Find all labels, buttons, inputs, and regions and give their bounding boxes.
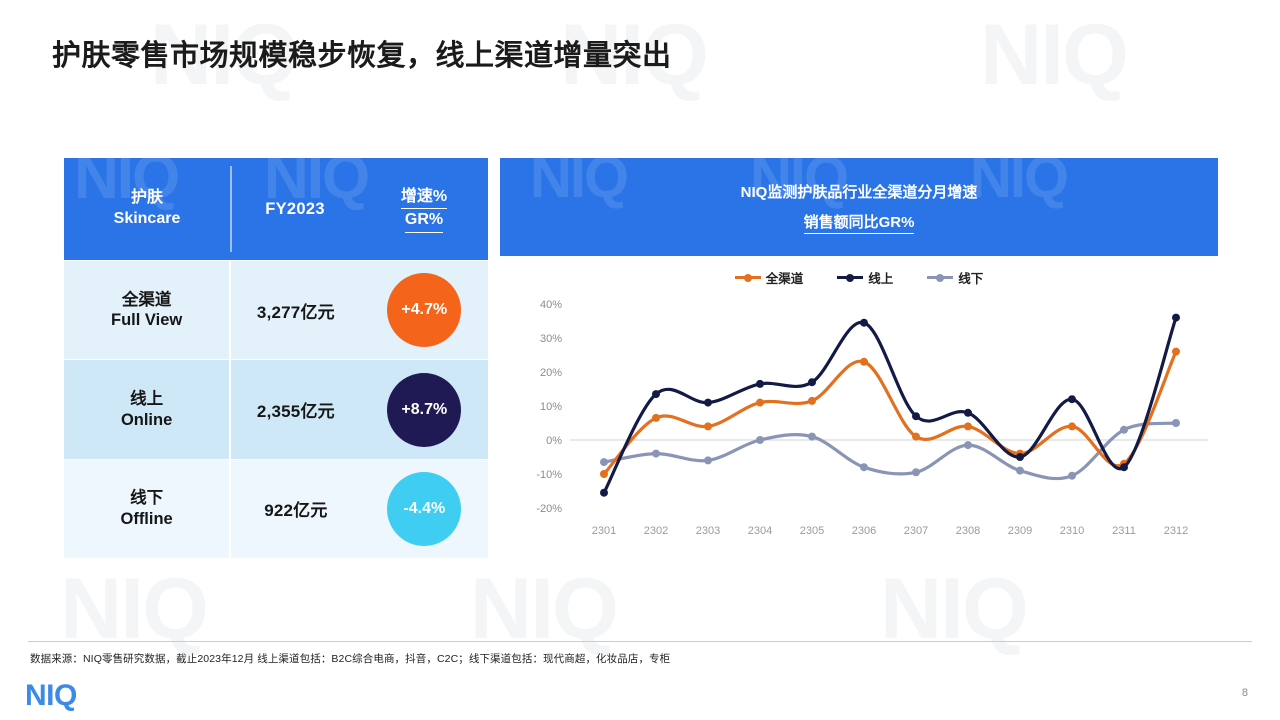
legend-item[interactable]: 线上 xyxy=(837,268,893,287)
chart-title-line1: NIQ监测护肤品行业全渠道分月增速 xyxy=(741,181,978,202)
row-value: 2,355亿元 xyxy=(257,397,335,422)
slide-root: NIQ NIQ NIQ NIQ NIQ NIQ 护肤零售市场规模稳步恢复，线上渠… xyxy=(0,0,1280,720)
data-point[interactable] xyxy=(600,489,608,497)
y-axis-tick-label: 0% xyxy=(546,435,562,447)
metrics-table: NIQ NIQ 护肤 Skincare FY2023 增速% GR% xyxy=(64,158,488,558)
x-axis-tick-label: 2307 xyxy=(904,525,928,537)
row-label-cell: 全渠道 Full View xyxy=(64,261,229,359)
x-axis-tick-label: 2312 xyxy=(1164,525,1188,537)
data-point[interactable] xyxy=(704,456,712,464)
x-axis-tick-label: 2309 xyxy=(1008,525,1032,537)
data-point[interactable] xyxy=(860,358,868,366)
table-row: 线上 Online 2,355亿元 +8.7% xyxy=(64,360,488,458)
growth-value: +8.7% xyxy=(401,401,447,419)
data-point[interactable] xyxy=(704,422,712,430)
data-point[interactable] xyxy=(600,470,608,478)
data-point[interactable] xyxy=(912,433,920,441)
legend-label: 全渠道 xyxy=(766,268,804,287)
legend-swatch xyxy=(735,276,761,279)
data-point[interactable] xyxy=(652,450,660,458)
data-point[interactable] xyxy=(1120,426,1128,434)
row-label-en: Online xyxy=(121,410,172,431)
legend-swatch xyxy=(927,276,953,279)
x-axis-tick-label: 2308 xyxy=(956,525,980,537)
data-point[interactable] xyxy=(1068,472,1076,480)
line-chart: -20%-10%0%10%20%30%40%230123022303230423… xyxy=(500,290,1218,558)
row-value: 922亿元 xyxy=(264,496,327,521)
row-label-cn: 全渠道 xyxy=(122,290,172,311)
data-point[interactable] xyxy=(652,414,660,422)
data-point[interactable] xyxy=(600,458,608,466)
chart-panel-header: NIQ NIQ NIQ NIQ监测护肤品行业全渠道分月增速 销售额同比GR% xyxy=(500,158,1218,256)
row-value-cell: 3,277亿元 xyxy=(231,261,360,359)
data-point[interactable] xyxy=(1068,395,1076,403)
page-number: 8 xyxy=(1242,687,1248,699)
x-axis-tick-label: 2302 xyxy=(644,525,668,537)
data-point[interactable] xyxy=(756,380,764,388)
header-growth-cn: 增速% xyxy=(401,186,447,210)
row-growth-cell: -4.4% xyxy=(361,460,488,558)
x-axis-tick-label: 2310 xyxy=(1060,525,1084,537)
growth-badge: +8.7% xyxy=(387,373,461,447)
legend-marker-icon xyxy=(936,274,944,282)
table-header-fy: FY2023 xyxy=(230,158,360,260)
legend-item[interactable]: 线下 xyxy=(927,268,983,287)
y-axis-tick-label: -20% xyxy=(536,503,562,515)
data-point[interactable] xyxy=(912,468,920,476)
watermark: NIQ xyxy=(470,560,617,659)
legend-item[interactable]: 全渠道 xyxy=(735,268,804,287)
data-point[interactable] xyxy=(860,463,868,471)
row-growth-cell: +8.7% xyxy=(361,360,488,458)
row-value-cell: 2,355亿元 xyxy=(231,360,360,458)
y-axis-tick-label: 10% xyxy=(540,401,562,413)
chart-panel: NIQ NIQ NIQ NIQ监测护肤品行业全渠道分月增速 销售额同比GR% 全… xyxy=(500,158,1218,558)
data-point[interactable] xyxy=(964,422,972,430)
data-point[interactable] xyxy=(912,412,920,420)
data-point[interactable] xyxy=(860,319,868,327)
chart-legend: 全渠道线上线下 xyxy=(500,268,1218,287)
data-point[interactable] xyxy=(964,441,972,449)
x-axis-tick-label: 2301 xyxy=(592,525,616,537)
row-value: 3,277亿元 xyxy=(257,298,335,323)
y-axis-tick-label: 20% xyxy=(540,367,562,379)
growth-badge: +4.7% xyxy=(387,273,461,347)
growth-badge: -4.4% xyxy=(387,472,461,546)
y-axis-tick-label: 40% xyxy=(540,299,562,311)
footnote: 数据来源：NIQ零售研究数据，截止2023年12月 线上渠道包括：B2C综合电商… xyxy=(30,651,670,666)
data-point[interactable] xyxy=(704,399,712,407)
row-growth-cell: +4.7% xyxy=(361,261,488,359)
x-axis-tick-label: 2305 xyxy=(800,525,824,537)
table-header-skincare: 护肤 Skincare xyxy=(64,158,230,260)
series-line xyxy=(604,318,1176,493)
legend-marker-icon xyxy=(846,274,854,282)
x-axis-tick-label: 2304 xyxy=(748,525,772,537)
row-label-en: Full View xyxy=(111,310,182,331)
table-header-row: NIQ NIQ 护肤 Skincare FY2023 增速% GR% xyxy=(64,158,488,260)
row-label-cn: 线下 xyxy=(130,488,163,509)
data-point[interactable] xyxy=(808,433,816,441)
row-label-en: Offline xyxy=(120,509,172,530)
page-title: 护肤零售市场规模稳步恢复，线上渠道增量突出 xyxy=(52,32,672,74)
data-point[interactable] xyxy=(808,397,816,405)
growth-value: -4.4% xyxy=(403,500,445,518)
row-label-cell: 线上 Online xyxy=(64,360,229,458)
header-growth-en: GR% xyxy=(405,209,443,233)
data-point[interactable] xyxy=(808,378,816,386)
watermark: NIQ xyxy=(880,560,1027,659)
niq-logo: NIQ xyxy=(25,679,77,713)
data-point[interactable] xyxy=(1172,348,1180,356)
header-fy-label: FY2023 xyxy=(265,200,325,219)
chart-title-line2: 销售额同比GR% xyxy=(804,211,915,234)
watermark: NIQ xyxy=(60,560,207,659)
x-axis-tick-label: 2303 xyxy=(696,525,720,537)
data-point[interactable] xyxy=(1172,314,1180,322)
legend-swatch xyxy=(837,276,863,279)
data-point[interactable] xyxy=(1016,453,1024,461)
y-axis-tick-label: -10% xyxy=(536,469,562,481)
data-point[interactable] xyxy=(1120,463,1128,471)
row-label-cell: 线下 Offline xyxy=(64,460,229,558)
table-header-growth: 增速% GR% xyxy=(360,158,488,260)
x-axis-tick-label: 2311 xyxy=(1112,525,1136,537)
table-row: 全渠道 Full View 3,277亿元 +4.7% xyxy=(64,261,488,359)
x-axis-tick-label: 2306 xyxy=(852,525,876,537)
data-point[interactable] xyxy=(1172,419,1180,427)
row-label-cn: 线上 xyxy=(130,389,163,410)
data-point[interactable] xyxy=(964,409,972,417)
growth-value: +4.7% xyxy=(401,301,447,319)
table-row: 线下 Offline 922亿元 -4.4% xyxy=(64,460,488,558)
watermark: NIQ xyxy=(980,6,1127,105)
legend-marker-icon xyxy=(744,274,752,282)
legend-label: 线下 xyxy=(958,268,983,287)
data-point[interactable] xyxy=(652,390,660,398)
header-skincare-en: Skincare xyxy=(114,209,181,230)
footer-divider xyxy=(28,641,1252,642)
header-skincare-cn: 护肤 xyxy=(114,188,181,209)
data-point[interactable] xyxy=(756,436,764,444)
series-online xyxy=(600,314,1180,497)
legend-label: 线上 xyxy=(868,268,893,287)
row-value-cell: 922亿元 xyxy=(231,460,360,558)
data-point[interactable] xyxy=(1068,422,1076,430)
data-point[interactable] xyxy=(1016,467,1024,475)
series-line xyxy=(604,423,1176,479)
data-point[interactable] xyxy=(756,399,764,407)
y-axis-tick-label: 30% xyxy=(540,333,562,345)
